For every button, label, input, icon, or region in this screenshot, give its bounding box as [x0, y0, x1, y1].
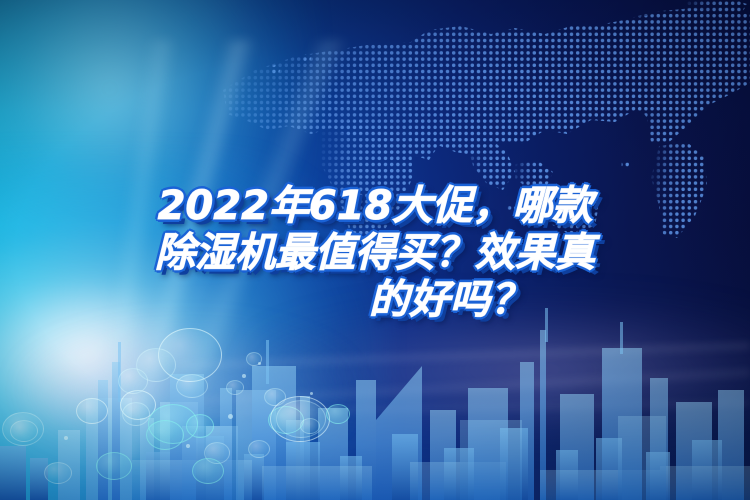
- promo-banner: 2022年618大促，哪款 除湿机最值得买？效果真 的好吗？: [0, 0, 750, 500]
- vignette-overlay: [0, 0, 750, 500]
